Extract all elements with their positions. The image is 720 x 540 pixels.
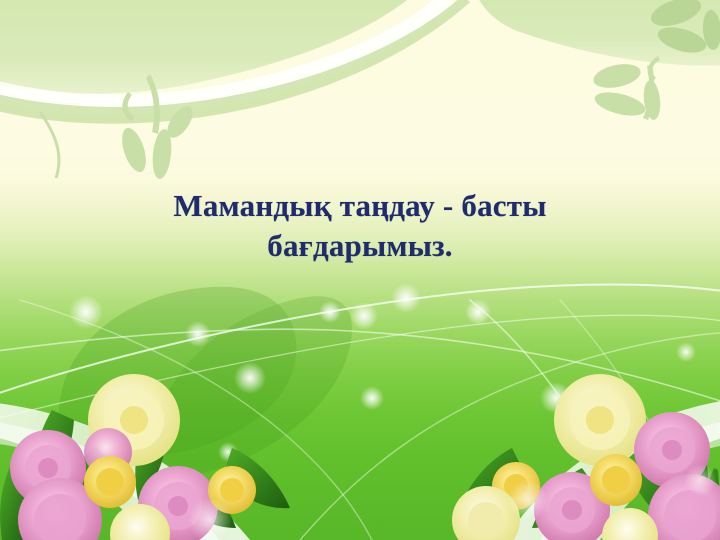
flower-pink-right-upper: [634, 412, 710, 488]
flower-pink-left-lower: [18, 478, 102, 540]
flower-cream-left-lower: [110, 504, 170, 540]
flower-bouquet-left: [0, 374, 290, 540]
leaf-branch-left-icon: [117, 74, 197, 180]
flower-bouquet-right: [452, 374, 720, 540]
white-arc-left-shape: [0, 400, 250, 540]
flower-pink-right-lower: [648, 474, 720, 540]
mid-decoration-layer: [0, 0, 720, 540]
leaf-branch-right-upper-icon: [648, 0, 720, 57]
flower-cream-right-lower: [452, 486, 520, 540]
flower-cream-left: [88, 374, 180, 466]
slide-title: Мамандық таңдау - басты бағдарымыз.: [60, 186, 660, 266]
flower-yellow-right: [590, 454, 642, 506]
leaf-silhouette-shape: [59, 287, 352, 476]
leaf-branch-right-icon: [591, 56, 662, 121]
top-right-blob-shape: [470, 0, 720, 65]
flower-pink-left-upper: [10, 430, 86, 506]
flower-pink-left-top: [84, 428, 132, 476]
bouquet-glow-decoration: [188, 464, 716, 540]
top-decoration-layer: [0, 0, 720, 540]
flower-yellow-right-small: [492, 462, 540, 510]
swoosh-lines-decoration: [0, 285, 720, 540]
flower-pink-left-mid: [138, 466, 218, 540]
bottom-floral-layer: [0, 0, 720, 540]
top-left-blob-shape: [0, 0, 470, 124]
leaf-stem-left-icon: [40, 112, 59, 178]
flower-yellow-left-small: [208, 466, 256, 514]
flower-cream-right-upper: [554, 374, 646, 466]
white-arc-right-shape: [504, 396, 720, 540]
flower-yellow-left: [84, 456, 136, 508]
bokeh-glow-decoration: [45, 283, 696, 483]
slide-title-block: Мамандық таңдау - басты бағдарымыз.: [0, 186, 720, 266]
presentation-slide: Мамандық таңдау - басты бағдарымыз.: [0, 0, 720, 540]
flower-pink-right-mid: [534, 472, 610, 540]
flower-cream-right-corner: [602, 508, 658, 540]
